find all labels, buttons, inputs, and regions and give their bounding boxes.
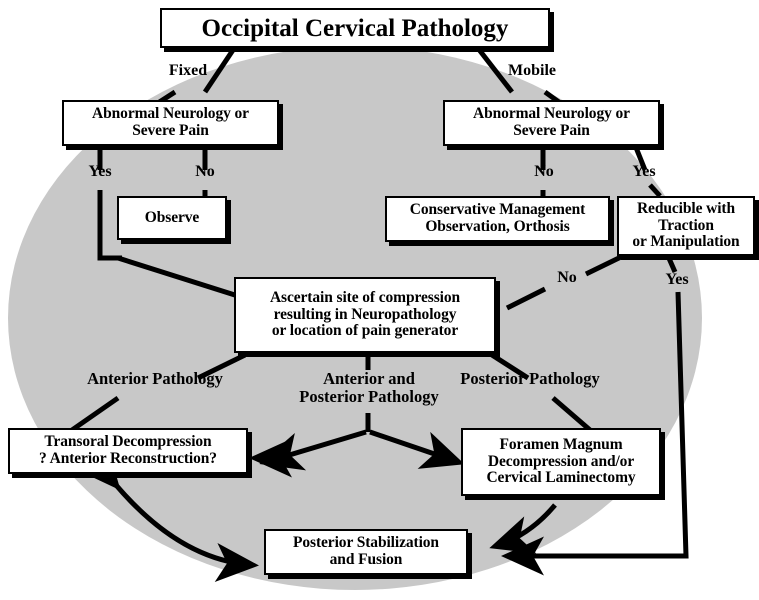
- node-transoral-decompression-label: Transoral Decompression ? Anterior Recon…: [35, 434, 221, 467]
- node-transoral-decompression[interactable]: Transoral Decompression ? Anterior Recon…: [8, 428, 248, 474]
- edge-label-reducible-no: No: [546, 270, 588, 287]
- node-ascertain-site-label: Ascertain site of compression resulting …: [266, 290, 464, 340]
- edge-label-reducible-yes: Yes: [654, 272, 700, 289]
- pathway-label-posterior: Posterior Pathology: [450, 370, 610, 388]
- node-foramen-magnum[interactable]: Foramen Magnum Decompression and/or Cerv…: [461, 428, 661, 496]
- node-conservative-management[interactable]: Conservative Management Observation, Ort…: [385, 196, 610, 242]
- edge-label-fixed: Fixed: [160, 63, 216, 80]
- node-reducible-traction-label: Reducible with Traction or Manipulation: [628, 201, 743, 251]
- node-observe[interactable]: Observe: [117, 196, 227, 240]
- node-conservative-management-label: Conservative Management Observation, Ort…: [406, 202, 589, 235]
- node-fixed-abnormal-neurology[interactable]: Abnormal Neurology or Severe Pain: [62, 100, 279, 146]
- edge-label-mobile: Mobile: [500, 63, 564, 80]
- node-mobile-abnormal-neurology[interactable]: Abnormal Neurology or Severe Pain: [443, 100, 660, 146]
- node-foramen-magnum-label: Foramen Magnum Decompression and/or Cerv…: [482, 437, 639, 487]
- node-posterior-stabilization[interactable]: Posterior Stabilization and Fusion: [264, 529, 468, 575]
- node-observe-label: Observe: [141, 210, 203, 227]
- node-title[interactable]: Occipital Cervical Pathology: [160, 8, 550, 48]
- edge-label-fixed-no: No: [183, 164, 227, 181]
- node-title-label: Occipital Cervical Pathology: [198, 15, 513, 42]
- flowchart-canvas: Occipital Cervical Pathology Fixed Mobil…: [0, 0, 759, 600]
- pathway-label-anterior-posterior: Anterior and Posterior Pathology: [295, 370, 443, 406]
- node-reducible-traction[interactable]: Reducible with Traction or Manipulation: [617, 196, 755, 256]
- edge-label-fixed-yes: Yes: [76, 164, 124, 181]
- node-mobile-abnormal-neurology-label: Abnormal Neurology or Severe Pain: [469, 106, 634, 139]
- node-fixed-abnormal-neurology-label: Abnormal Neurology or Severe Pain: [88, 106, 253, 139]
- node-posterior-stabilization-label: Posterior Stabilization and Fusion: [289, 535, 443, 568]
- edge-label-mobile-yes: Yes: [620, 164, 668, 181]
- edge-label-mobile-no: No: [522, 164, 566, 181]
- pathway-label-anterior: Anterior Pathology: [80, 370, 230, 388]
- node-ascertain-site[interactable]: Ascertain site of compression resulting …: [234, 277, 496, 353]
